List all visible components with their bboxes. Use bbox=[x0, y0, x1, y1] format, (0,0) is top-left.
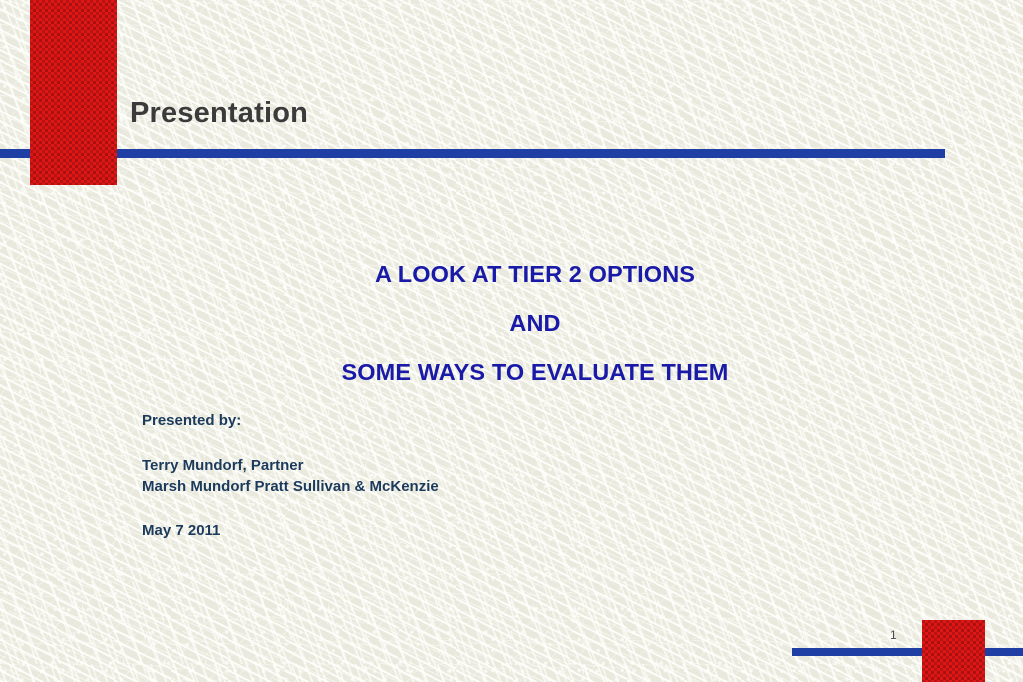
presenter-block: Presented by: Terry Mundorf, Partner Mar… bbox=[142, 410, 439, 541]
headline-block: A LOOK AT TIER 2 OPTIONS AND SOME WAYS T… bbox=[0, 250, 1023, 397]
presenter-firm: Marsh Mundorf Pratt Sullivan & McKenzie bbox=[142, 476, 439, 497]
presentation-slide: Presentation A LOOK AT TIER 2 OPTIONS AN… bbox=[0, 0, 1023, 682]
presenter-name-title: Terry Mundorf, Partner bbox=[142, 455, 439, 476]
footer-blue-rule bbox=[792, 648, 1023, 656]
presented-by-label: Presented by: bbox=[142, 410, 439, 431]
slide-header-title: Presentation bbox=[130, 99, 308, 128]
presenter-spacer-1 bbox=[142, 431, 439, 455]
page-number: 1 bbox=[890, 629, 897, 641]
header-blue-rule bbox=[0, 149, 945, 158]
header-red-block bbox=[30, 0, 117, 185]
headline-line-3: SOME WAYS TO EVALUATE THEM bbox=[0, 348, 1023, 397]
footer-red-block bbox=[922, 620, 985, 682]
presentation-date: May 7 2011 bbox=[142, 520, 439, 541]
headline-line-2: AND bbox=[0, 299, 1023, 348]
headline-line-1: A LOOK AT TIER 2 OPTIONS bbox=[0, 250, 1023, 299]
presenter-spacer-2 bbox=[142, 497, 439, 520]
